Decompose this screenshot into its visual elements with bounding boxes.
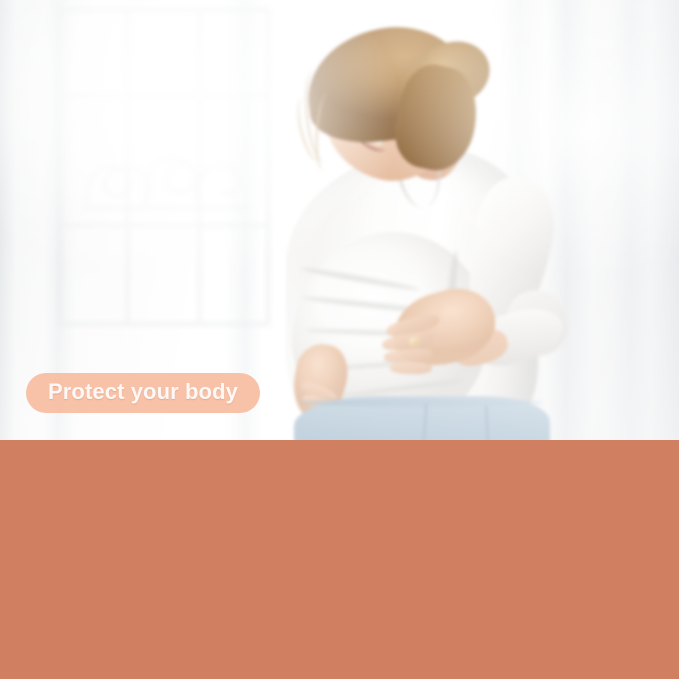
protect-your-body-badge: Protect your body xyxy=(26,373,260,413)
feature-banner: PROVIDES GENTLE COMPRESSION Provide warm… xyxy=(0,440,679,679)
hero-photo: Protect your body xyxy=(0,0,679,441)
product-poster: Protect your body PROVIDES GENTLE COMPRE… xyxy=(0,0,679,679)
